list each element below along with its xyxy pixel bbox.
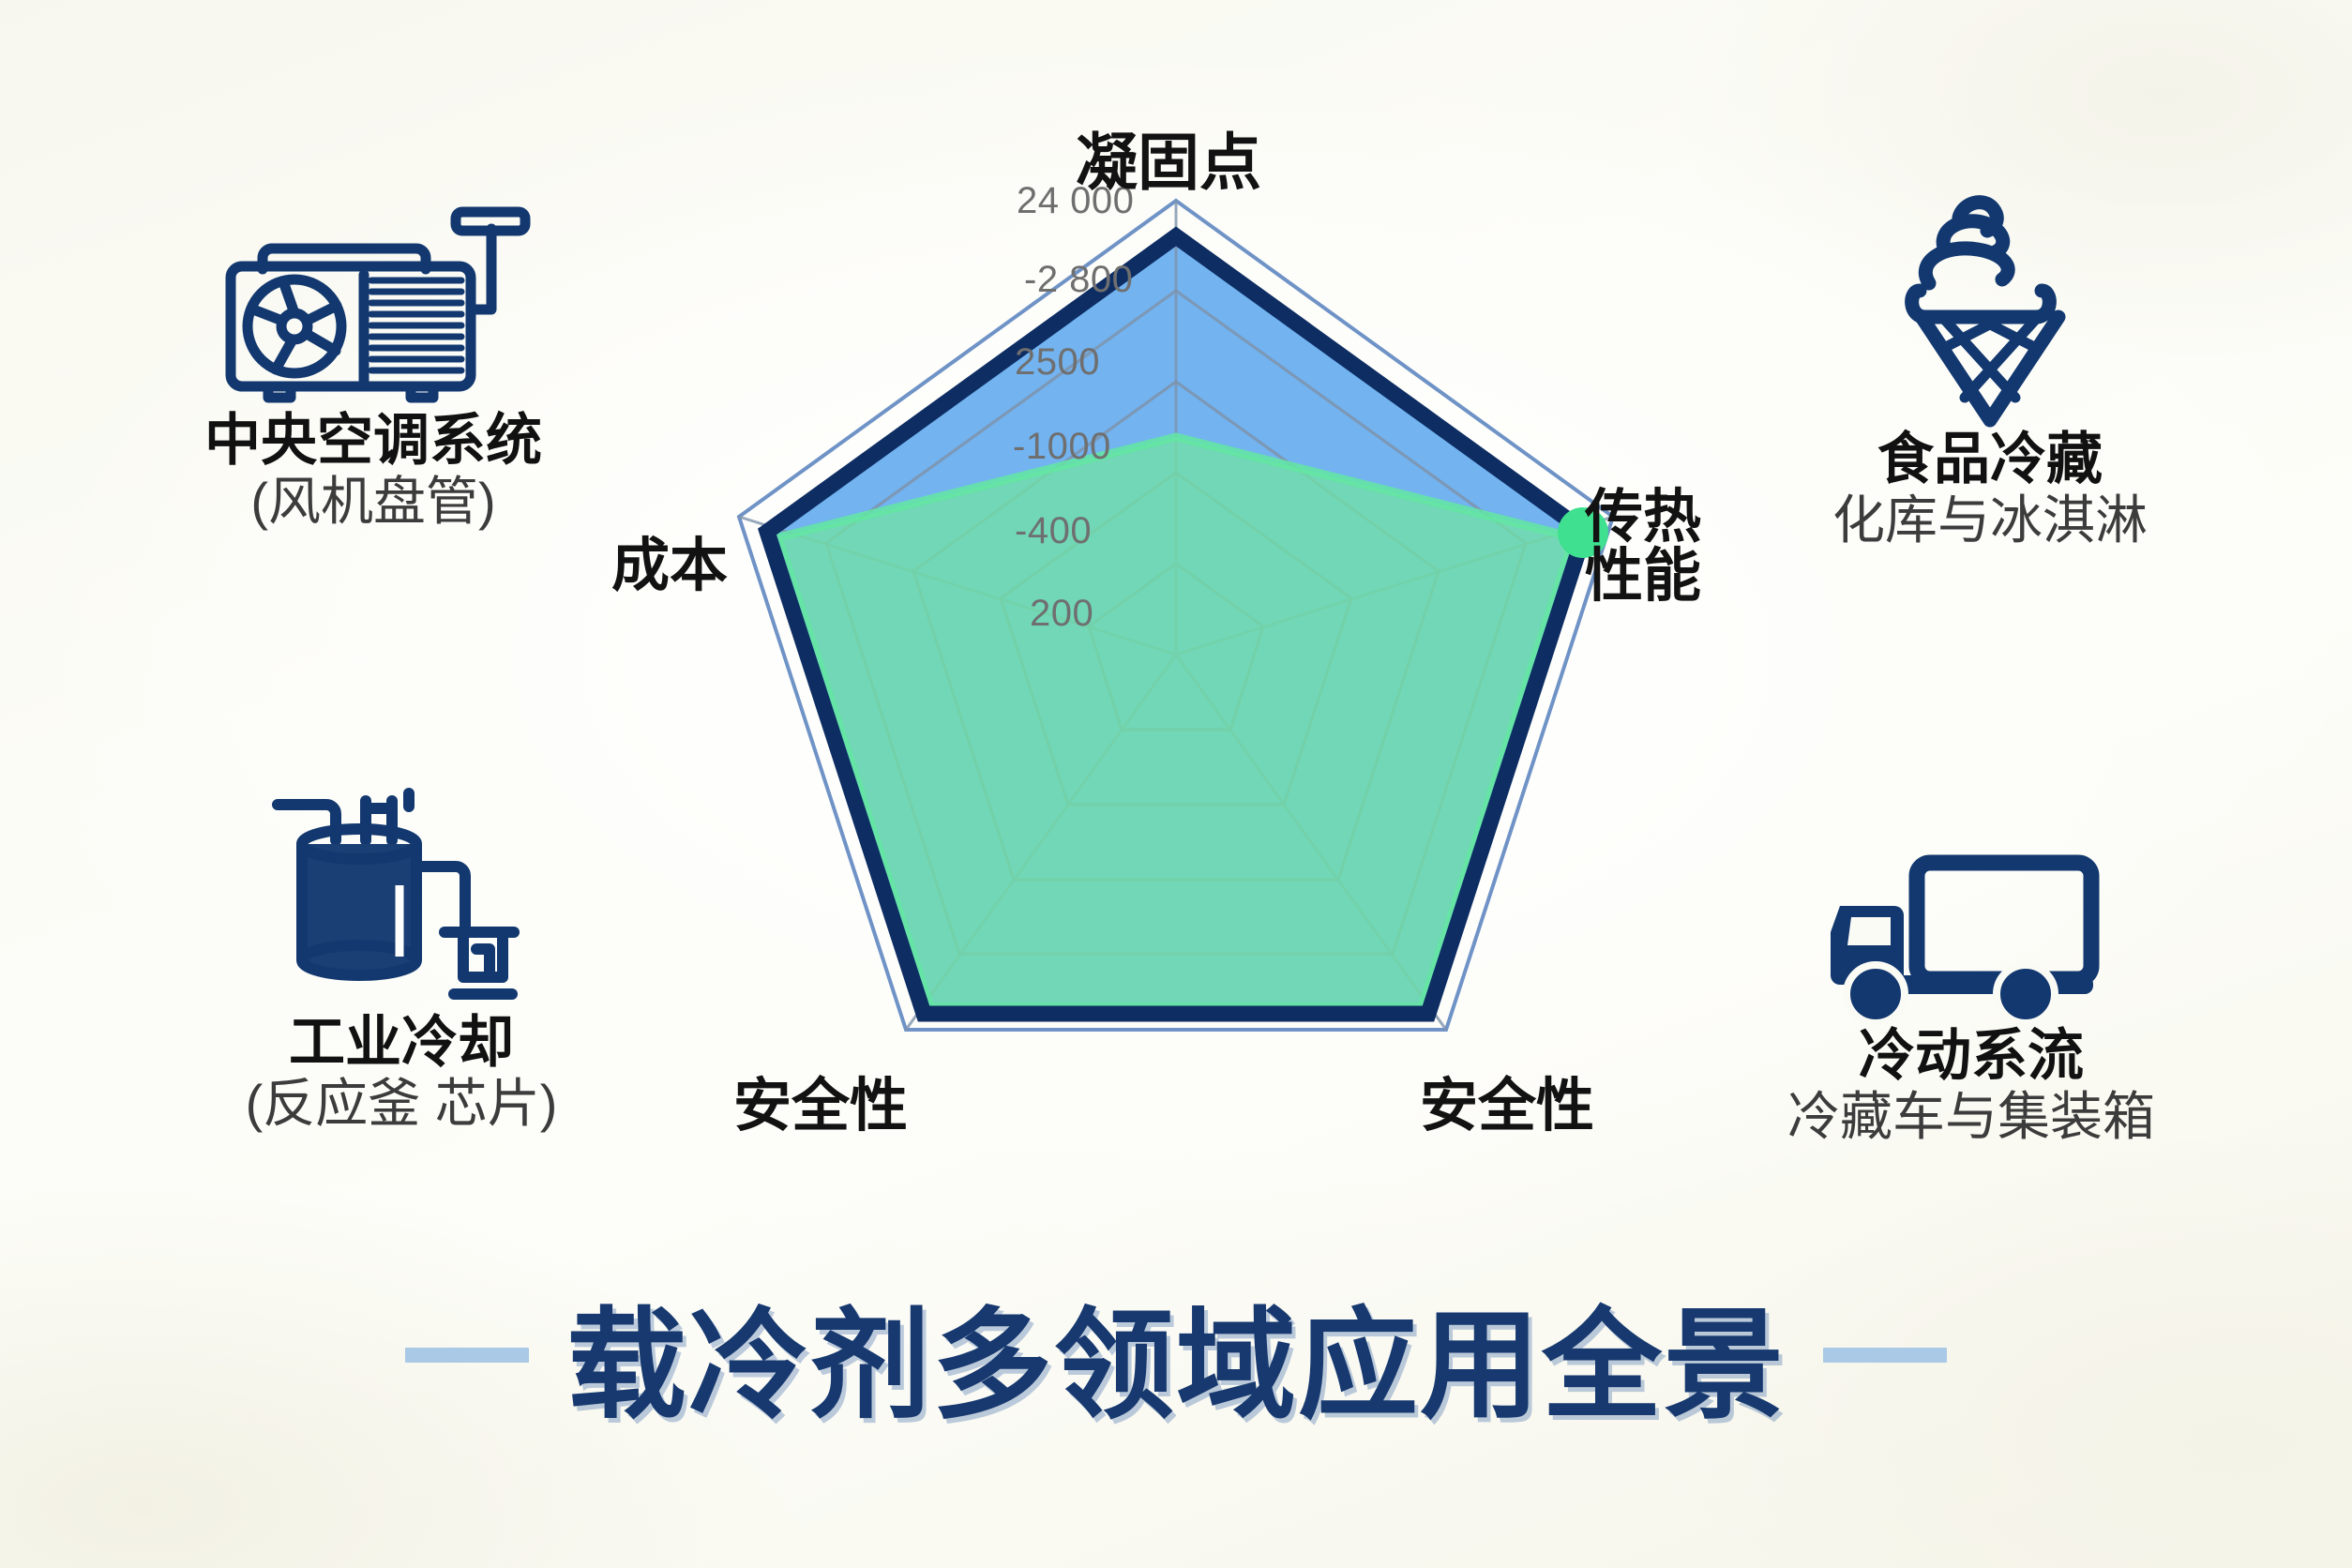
- radar-axis-label-heat-transfer: 传热 性能: [1585, 488, 1701, 606]
- application-subtitle-industrial-cooling: (反应釜 芯片): [158, 1074, 645, 1134]
- radar-tick-label-2: 2500: [1015, 341, 1100, 384]
- application-title-cold-chain: 冷动系流: [1718, 1024, 2224, 1087]
- radar-axis-label-cost: 成本: [611, 536, 728, 596]
- radar-tick-label-4: -400: [1015, 510, 1092, 552]
- radar-axis-label-freezing-point: 凝固点: [1076, 131, 1261, 194]
- radar-tick-label-1: -2 800: [1024, 259, 1133, 301]
- radar-chart-svg: [707, 184, 1645, 1131]
- radar-chart: 24 000 -2 800 2500 -1000 -400 200: [707, 184, 1645, 1131]
- application-title-food-refrigeration: 食品冷藏: [1746, 428, 2234, 490]
- radar-axis-label-heat-transfer-line1: 传热: [1585, 488, 1701, 547]
- application-subtitle-food-refrigeration: 化库与冰淇淋: [1746, 490, 2234, 550]
- reactor-tank-icon: [158, 780, 645, 1011]
- application-block-cold-chain: 冷动系流 冷藏车与集装箱: [1718, 844, 2224, 1147]
- application-block-food-refrigeration: 食品冷藏 化库与冰淇淋: [1746, 174, 2234, 550]
- page-title: 载冷剂多领域应用全景: [566, 1268, 1786, 1441]
- radar-axis-label-safety-left: 安全性: [733, 1077, 908, 1136]
- ice-cream-cone-icon: [1746, 174, 2234, 428]
- application-title-central-ac: 中央空调系统: [111, 409, 636, 472]
- radar-tick-label-5: 200: [1030, 593, 1093, 635]
- footer-title-bar: 载冷剂多领域应用全景: [0, 1268, 2352, 1441]
- air-conditioner-icon: [111, 204, 636, 409]
- title-dash-left: [405, 1348, 529, 1363]
- application-title-industrial-cooling: 工业冷却: [158, 1011, 645, 1074]
- application-subtitle-central-ac: (风机盘管): [111, 472, 636, 532]
- application-block-industrial-cooling: 工业冷却 (反应釜 芯片): [158, 780, 645, 1134]
- title-dash-right: [1823, 1348, 1947, 1363]
- application-subtitle-cold-chain: 冷藏车与集装箱: [1718, 1087, 2224, 1147]
- application-block-central-ac: 中央空调系统 (风机盘管): [111, 204, 636, 532]
- radar-axis-label-safety-right: 安全性: [1420, 1077, 1594, 1136]
- refrigerated-truck-icon: [1718, 844, 2224, 1024]
- radar-tick-label-3: -1000: [1013, 426, 1111, 468]
- radar-axis-label-heat-transfer-line2: 性能: [1585, 547, 1701, 606]
